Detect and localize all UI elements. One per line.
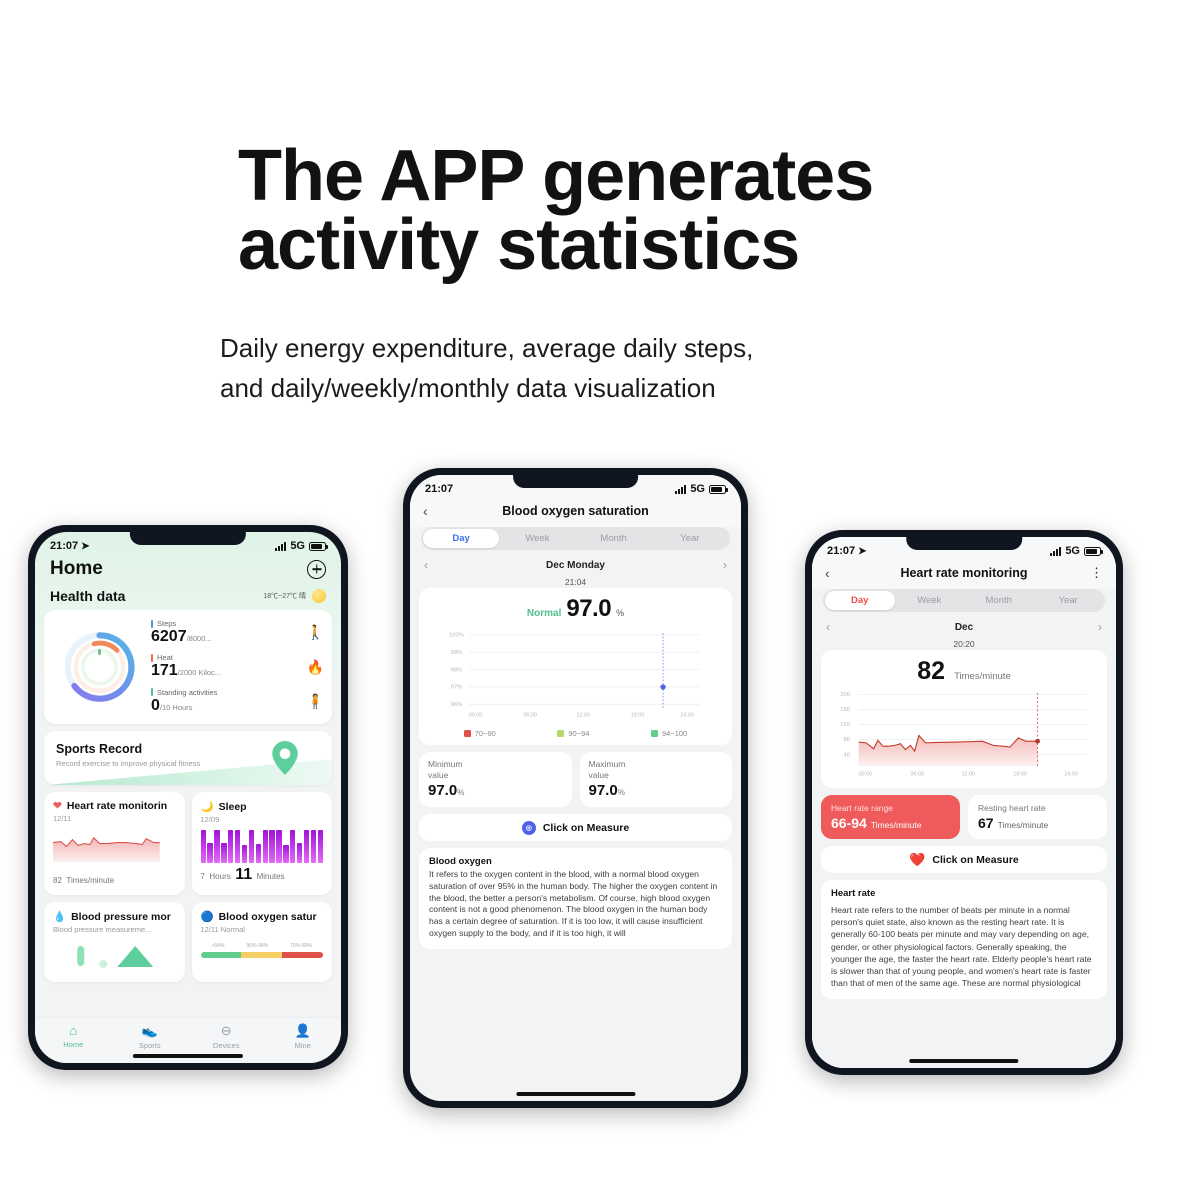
- heart-rate-range-value: 66-94: [831, 815, 867, 831]
- date-next-icon[interactable]: ›: [1098, 620, 1102, 634]
- heart-pulse-icon: ❤️: [909, 852, 925, 868]
- battery-icon: [1084, 547, 1101, 556]
- location-arrow-icon: ➤: [858, 546, 866, 557]
- minimum-value: 97.0: [428, 782, 457, 799]
- metric-suffix: /10 Hours: [160, 703, 193, 712]
- svg-text:24:00: 24:00: [1064, 771, 1078, 777]
- tile-title: Blood oxygen satur: [219, 911, 317, 923]
- heart-rate-chart-card: 82 Times/minute 200160120 8040: [821, 650, 1107, 788]
- info-title: Blood oxygen: [429, 856, 722, 867]
- date-navigator: ‹ Dec Monday ›: [410, 557, 741, 577]
- watch-icon: ⊖: [188, 1023, 265, 1039]
- health-data-title: Health data: [50, 588, 125, 604]
- metric-label: Standing activities: [157, 688, 217, 697]
- person-icon: 👤: [265, 1023, 342, 1039]
- more-vertical-icon[interactable]: ⋮: [1087, 565, 1103, 581]
- oxygen-range-bar: [201, 952, 324, 958]
- home-indicator: [133, 1054, 243, 1058]
- date-next-icon[interactable]: ›: [723, 558, 727, 572]
- segment-day[interactable]: Day: [825, 591, 895, 610]
- tile-value-hours: 7: [201, 872, 205, 881]
- tile-title: Heart rate monitorin: [67, 800, 167, 812]
- segment-day[interactable]: Day: [423, 529, 499, 548]
- tile-unit-minutes: Minutes: [257, 872, 285, 881]
- plus-circle-icon[interactable]: [307, 560, 326, 579]
- minimum-label-line2: value: [428, 770, 448, 780]
- info-body: It refers to the oxygen content in the b…: [429, 869, 722, 939]
- metric-value: 171: [151, 662, 178, 679]
- sports-record-card[interactable]: Sports Record Record exercise to improve…: [44, 731, 332, 785]
- chevron-left-icon[interactable]: ‹: [825, 565, 841, 581]
- heart-rate-area-chart: 200160120 8040 00:0006:0012:00 18:0024:0…: [829, 686, 1099, 778]
- minimum-value-card: Minimum value 97.0%: [419, 752, 572, 807]
- minimum-unit: %: [457, 788, 464, 797]
- flame-icon: 🔥: [307, 659, 324, 676]
- home-indicator: [909, 1059, 1018, 1063]
- legend-label: 94~100: [662, 729, 687, 738]
- metric-standing: Standing activities 0/10 Hours 🧍: [151, 688, 324, 715]
- segment-week[interactable]: Week: [499, 529, 575, 548]
- heart-rate-range-card: Heart rate range 66-94Times/minute: [821, 795, 960, 839]
- tile-subtitle: Blood pressure measureme...: [53, 925, 176, 934]
- nav-title: Blood oxygen saturation: [439, 504, 712, 518]
- svg-text:98%: 98%: [451, 667, 463, 673]
- metric-suffix: /2000 Kiloc...: [178, 668, 221, 677]
- home-indicator: [516, 1092, 635, 1096]
- svg-text:80: 80: [844, 737, 851, 743]
- heart-rate-value: 82: [917, 657, 945, 686]
- legend-label: 90~94: [568, 729, 589, 738]
- metric-label: Heat: [157, 653, 173, 662]
- status-time: 21:07: [50, 540, 78, 552]
- tab-label: Mine: [295, 1041, 311, 1050]
- segment-week[interactable]: Week: [895, 591, 965, 610]
- network-label: 5G: [1065, 545, 1080, 557]
- circle-icon: 🔵: [201, 910, 214, 923]
- notch: [513, 475, 639, 488]
- tile-blood-oxygen[interactable]: 🔵 Blood oxygen satur 12/11 Normal >94% 9…: [192, 902, 333, 982]
- metric-label: Steps: [157, 619, 176, 628]
- tab-label: Home: [63, 1040, 83, 1049]
- tab-mine[interactable]: 👤 Mine: [265, 1023, 342, 1050]
- minmax-cards: Minimum value 97.0% Maximum value 97.0%: [419, 752, 732, 807]
- heart-rate-unit: Times/minute: [954, 671, 1011, 682]
- segment-year[interactable]: Year: [1034, 591, 1104, 610]
- phone-center-screen: 21:07 5G ‹ Blood oxygen saturation Day W…: [410, 475, 741, 1101]
- status-time: 21:07: [827, 545, 855, 557]
- health-tiles-grid: ❤ Heart rate monitorin 12/11 82 Times/mi…: [44, 792, 332, 982]
- tab-devices[interactable]: ⊖ Devices: [188, 1023, 265, 1050]
- blood-oxygen-info-card: Blood oxygen It refers to the oxygen con…: [419, 848, 732, 949]
- reading-time: 21:04: [410, 577, 741, 587]
- tile-date: 12/11 Normal: [201, 925, 324, 934]
- walking-icon: 🚶: [307, 624, 324, 641]
- heart-rate-stats: Heart rate range 66-94Times/minute Resti…: [821, 795, 1107, 839]
- minimum-label-line1: Minimum: [428, 759, 462, 769]
- battery-icon: [709, 485, 726, 494]
- headline-line1: The APP generates: [238, 136, 873, 216]
- tile-value-minutes: 11: [235, 866, 252, 883]
- location-arrow-icon: ➤: [81, 541, 89, 552]
- phone-left-screen: 21:07 ➤ 5G Home Health data 18℃~27℃ 晴: [35, 532, 341, 1063]
- health-data-header: Health data 18℃~27℃ 晴: [35, 586, 341, 610]
- activity-rings-chart: [52, 623, 147, 711]
- nav-bar: ‹ Blood oxygen saturation: [410, 497, 741, 527]
- metric-value: 6207: [151, 628, 187, 645]
- date-prev-icon[interactable]: ‹: [826, 620, 830, 634]
- heart-rate-sparkline: [53, 829, 160, 862]
- signal-icon: [1050, 547, 1062, 556]
- resting-heart-rate-card: Resting heart rate 67Times/minute: [968, 795, 1107, 839]
- blood-oxygen-page: 21:07 5G ‹ Blood oxygen saturation Day W…: [410, 475, 741, 1101]
- svg-text:100%: 100%: [449, 633, 464, 639]
- date-navigator: ‹ Dec ›: [812, 619, 1116, 639]
- maximum-value: 97.0: [589, 782, 618, 799]
- standing-icon: 🧍: [307, 693, 324, 710]
- home-header: Home: [35, 554, 341, 586]
- tile-title: Sleep: [219, 801, 247, 813]
- segment-month[interactable]: Month: [964, 591, 1034, 610]
- sleep-bar-chart: [201, 830, 324, 863]
- date-prev-icon[interactable]: ‹: [424, 558, 428, 572]
- tile-date: 12/11: [53, 814, 176, 823]
- oxygen-legend-item: 90%-94%: [247, 943, 269, 949]
- metric-heat: Heat 171/2000 Kiloc... 🔥: [151, 653, 324, 680]
- blood-pressure-illustration: [53, 940, 176, 970]
- svg-text:40: 40: [844, 752, 851, 758]
- sun-icon: [312, 589, 326, 603]
- home-title: Home: [50, 558, 103, 580]
- date-label: Dec Monday: [546, 560, 605, 571]
- tile-value: 82: [53, 876, 62, 885]
- nav-bar: ‹ Heart rate monitoring ⋮: [812, 559, 1116, 589]
- health-metrics: Steps 6207/8000... 🚶 Heat 171/2000 Kiloc…: [147, 619, 324, 715]
- svg-text:97%: 97%: [451, 685, 463, 691]
- metric-suffix: /8000...: [187, 634, 212, 643]
- measure-button[interactable]: ❤️ Click on Measure: [821, 846, 1107, 873]
- resting-heart-rate-label: Resting heart rate: [978, 803, 1097, 813]
- segment-year[interactable]: Year: [652, 529, 728, 548]
- maximum-label-line1: Maximum: [589, 759, 626, 769]
- svg-text:160: 160: [840, 707, 851, 713]
- weather-info: 18℃~27℃ 晴: [263, 589, 326, 603]
- oxygen-icon: ◎: [522, 821, 536, 835]
- period-segmented-control: Day Week Month Year: [421, 527, 730, 550]
- svg-text:99%: 99%: [451, 650, 463, 656]
- oxygen-unit: %: [616, 608, 624, 618]
- tile-sleep[interactable]: 🌙 Sleep 12/09 7 Hours 11 Minutes: [192, 792, 333, 895]
- tile-date: 12/09: [201, 815, 324, 824]
- oxygen-legend: >94% 90%-94% 70%-89%: [201, 943, 324, 949]
- svg-text:12:00: 12:00: [576, 713, 589, 719]
- notch: [906, 537, 1022, 550]
- subhead-line2: and daily/weekly/monthly data visualizat…: [220, 368, 1000, 408]
- oxygen-status: Normal: [527, 608, 561, 619]
- period-segmented-control: Day Week Month Year: [823, 589, 1105, 612]
- network-label: 5G: [290, 540, 305, 552]
- tab-label: Devices: [213, 1041, 240, 1050]
- heart-icon: ❤: [53, 800, 62, 812]
- legend-item-90-94: 90~94: [557, 729, 589, 738]
- heart-rate-page: 21:07 ➤ 5G ‹ Heart rate monitoring ⋮ Day…: [812, 537, 1116, 1068]
- phone-right: 21:07 ➤ 5G ‹ Heart rate monitoring ⋮ Day…: [805, 530, 1123, 1075]
- tab-sports[interactable]: 👟 Sports: [112, 1023, 189, 1050]
- svg-text:96%: 96%: [451, 702, 463, 708]
- tile-unit-hours: Hours: [209, 872, 230, 881]
- measure-button[interactable]: ◎ Click on Measure: [419, 814, 732, 841]
- resting-heart-rate-value: 67: [978, 815, 994, 831]
- reading-time: 20:20: [812, 639, 1116, 649]
- weather-temp: 18℃~27℃ 晴: [263, 591, 306, 601]
- page-subtitle: Daily energy expenditure, average daily …: [220, 328, 1000, 409]
- svg-text:06:00: 06:00: [523, 713, 536, 719]
- oxygen-value: 97.0: [566, 595, 611, 623]
- signal-icon: [275, 542, 287, 551]
- info-body: Heart rate refers to the number of beats…: [831, 904, 1097, 989]
- tile-heart-rate[interactable]: ❤ Heart rate monitorin 12/11 82 Times/mi…: [44, 792, 185, 895]
- info-title: Heart rate: [831, 888, 1097, 899]
- heart-rate-range-unit: Times/minute: [871, 820, 922, 830]
- signal-icon: [675, 485, 687, 494]
- home-icon: ⌂: [35, 1023, 112, 1038]
- svg-text:24:00: 24:00: [680, 713, 693, 719]
- svg-text:06:00: 06:00: [910, 771, 924, 777]
- battery-icon: [309, 542, 326, 551]
- svg-text:00:00: 00:00: [859, 771, 873, 777]
- oxygen-chart-card: Normal 97.0 % 100%99%98% 97%96%: [419, 588, 732, 745]
- tab-label: Sports: [139, 1041, 161, 1050]
- chevron-left-icon[interactable]: ‹: [423, 503, 439, 519]
- segment-month[interactable]: Month: [576, 529, 652, 548]
- oxygen-legend: 70~90 90~94 94~100: [427, 725, 724, 740]
- measure-button-label: Click on Measure: [543, 822, 629, 834]
- shoe-icon: 👟: [112, 1023, 189, 1039]
- droplet-icon: 💧: [53, 910, 66, 923]
- moon-icon: 🌙: [201, 800, 214, 813]
- resting-heart-rate-unit: Times/minute: [998, 820, 1049, 830]
- maximum-unit: %: [618, 788, 625, 797]
- svg-text:18:00: 18:00: [631, 713, 644, 719]
- heart-rate-range-label: Heart rate range: [831, 803, 950, 813]
- heart-rate-reading: 82 Times/minute: [829, 657, 1099, 686]
- date-label: Dec: [955, 622, 973, 633]
- oxygen-reading: Normal 97.0 %: [427, 595, 724, 623]
- svg-text:120: 120: [840, 722, 851, 728]
- status-time: 21:07: [425, 483, 453, 495]
- map-pin-icon: [272, 741, 298, 775]
- page-title: The APP generates activity statistics: [238, 142, 998, 280]
- metric-steps: Steps 6207/8000... 🚶: [151, 619, 324, 646]
- oxygen-line-chart: 100%99%98% 97%96% 00:0006:0012:00 18:002…: [427, 625, 724, 720]
- svg-text:00:00: 00:00: [469, 713, 482, 719]
- maximum-label-line2: value: [589, 770, 609, 780]
- heart-rate-info-card: Heart rate Heart rate refers to the numb…: [821, 880, 1107, 999]
- nav-title: Heart rate monitoring: [841, 566, 1087, 580]
- metric-value: 0: [151, 697, 160, 714]
- tile-blood-pressure[interactable]: 💧 Blood pressure mor Blood pressure meas…: [44, 902, 185, 982]
- legend-item-70-90: 70~90: [464, 729, 496, 738]
- notch: [130, 532, 246, 545]
- tile-unit: Times/minute: [66, 876, 114, 885]
- oxygen-legend-item: 70%-89%: [290, 943, 312, 949]
- measure-button-label: Click on Measure: [932, 854, 1018, 866]
- oxygen-legend-item: >94%: [212, 943, 225, 949]
- legend-item-94-100: 94~100: [651, 729, 687, 738]
- tab-home[interactable]: ⌂ Home: [35, 1023, 112, 1049]
- tile-title: Blood pressure mor: [71, 911, 171, 923]
- phone-center: 21:07 5G ‹ Blood oxygen saturation Day W…: [403, 468, 748, 1108]
- svg-text:200: 200: [840, 692, 851, 698]
- subhead-line1: Daily energy expenditure, average daily …: [220, 328, 1000, 368]
- network-label: 5G: [690, 483, 705, 495]
- health-rings-card[interactable]: Steps 6207/8000... 🚶 Heat 171/2000 Kiloc…: [44, 610, 332, 724]
- phone-right-screen: 21:07 ➤ 5G ‹ Heart rate monitoring ⋮ Day…: [812, 537, 1116, 1068]
- svg-text:18:00: 18:00: [1013, 771, 1027, 777]
- headline-line2: activity statistics: [238, 211, 998, 280]
- legend-label: 70~90: [475, 729, 496, 738]
- maximum-value-card: Maximum value 97.0%: [580, 752, 733, 807]
- phone-left: 21:07 ➤ 5G Home Health data 18℃~27℃ 晴: [28, 525, 348, 1070]
- svg-text:12:00: 12:00: [961, 771, 975, 777]
